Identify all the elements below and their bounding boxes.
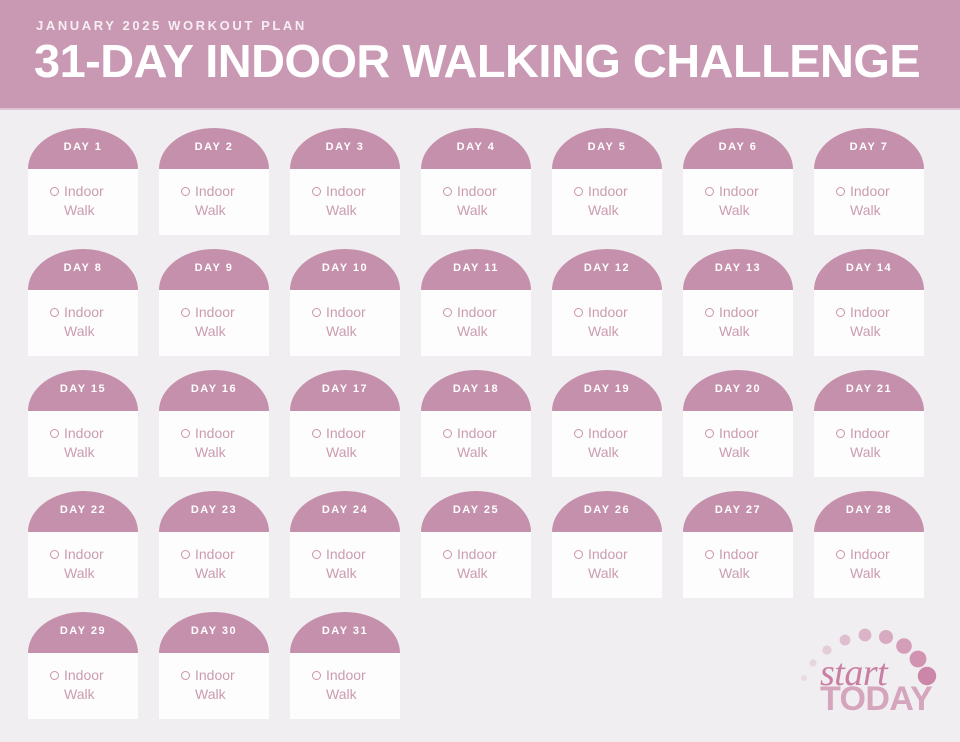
task-checkbox-circle-icon[interactable] xyxy=(574,429,583,438)
day-card-arch-header: DAY 2 xyxy=(159,128,269,169)
day-card-task-label: Indoor Walk xyxy=(64,666,132,704)
day-card-body: Indoor Walk xyxy=(159,169,269,235)
day-card-body: Indoor Walk xyxy=(28,290,138,356)
day-card-body: Indoor Walk xyxy=(814,290,924,356)
task-checkbox-circle-icon[interactable] xyxy=(705,187,714,196)
day-card-arch-header: DAY 15 xyxy=(28,370,138,411)
day-card-arch-header: DAY 17 xyxy=(290,370,400,411)
day-card-task-label: Indoor Walk xyxy=(457,545,525,583)
day-card-task-label: Indoor Walk xyxy=(64,303,132,341)
day-card[interactable]: DAY 27Indoor Walk xyxy=(683,491,793,598)
task-checkbox-circle-icon[interactable] xyxy=(705,308,714,317)
task-checkbox-circle-icon[interactable] xyxy=(836,550,845,559)
day-card-body: Indoor Walk xyxy=(159,290,269,356)
day-card-arch-header: DAY 9 xyxy=(159,249,269,290)
task-checkbox-circle-icon[interactable] xyxy=(705,429,714,438)
logo-arc-dot xyxy=(859,629,872,642)
task-checkbox-circle-icon[interactable] xyxy=(836,308,845,317)
logo-arc-dot xyxy=(910,651,927,668)
day-card-body: Indoor Walk xyxy=(814,169,924,235)
day-card-label: DAY 23 xyxy=(159,504,269,516)
day-card-label: DAY 16 xyxy=(159,383,269,395)
day-card-label: DAY 19 xyxy=(552,383,662,395)
day-card[interactable]: DAY 13Indoor Walk xyxy=(683,249,793,356)
day-card-body: Indoor Walk xyxy=(683,411,793,477)
day-card-label: DAY 2 xyxy=(159,141,269,153)
day-card-task-label: Indoor Walk xyxy=(64,545,132,583)
day-card[interactable]: DAY 1Indoor Walk xyxy=(28,128,138,235)
day-card[interactable]: DAY 23Indoor Walk xyxy=(159,491,269,598)
task-checkbox-circle-icon[interactable] xyxy=(443,187,452,196)
day-card-arch-header: DAY 24 xyxy=(290,491,400,532)
day-card[interactable]: DAY 26Indoor Walk xyxy=(552,491,662,598)
day-card[interactable]: DAY 24Indoor Walk xyxy=(290,491,400,598)
day-card-arch-header: DAY 27 xyxy=(683,491,793,532)
day-card-task-label: Indoor Walk xyxy=(326,182,394,220)
day-card-label: DAY 17 xyxy=(290,383,400,395)
day-card-arch-header: DAY 23 xyxy=(159,491,269,532)
day-card-task-label: Indoor Walk xyxy=(326,545,394,583)
day-card-task-label: Indoor Walk xyxy=(850,424,918,462)
day-card-body: Indoor Walk xyxy=(290,169,400,235)
task-checkbox-circle-icon[interactable] xyxy=(705,550,714,559)
day-card-arch-header: DAY 8 xyxy=(28,249,138,290)
day-card-arch-header: DAY 1 xyxy=(28,128,138,169)
task-checkbox-circle-icon[interactable] xyxy=(50,550,59,559)
task-checkbox-circle-icon[interactable] xyxy=(181,429,190,438)
day-card-task-label: Indoor Walk xyxy=(719,182,787,220)
task-checkbox-circle-icon[interactable] xyxy=(312,429,321,438)
day-card[interactable]: DAY 18Indoor Walk xyxy=(421,370,531,477)
day-card-task-label: Indoor Walk xyxy=(719,303,787,341)
task-checkbox-circle-icon[interactable] xyxy=(574,550,583,559)
day-card-task-label: Indoor Walk xyxy=(326,666,394,704)
day-card[interactable]: DAY 12Indoor Walk xyxy=(552,249,662,356)
task-checkbox-circle-icon[interactable] xyxy=(836,429,845,438)
task-checkbox-circle-icon[interactable] xyxy=(181,187,190,196)
day-card-label: DAY 6 xyxy=(683,141,793,153)
logo-arc-dot xyxy=(809,659,816,666)
day-card[interactable]: DAY 19Indoor Walk xyxy=(552,370,662,477)
day-card-arch-header: DAY 5 xyxy=(552,128,662,169)
logo-arc-dot xyxy=(801,675,807,681)
task-checkbox-circle-icon[interactable] xyxy=(50,429,59,438)
day-card-body: Indoor Walk xyxy=(683,169,793,235)
day-card-body: Indoor Walk xyxy=(290,290,400,356)
start-today-logo: start TODAY xyxy=(796,614,948,718)
day-card-task-label: Indoor Walk xyxy=(850,545,918,583)
day-card-arch-header: DAY 12 xyxy=(552,249,662,290)
day-card-label: DAY 4 xyxy=(421,141,531,153)
day-card-body: Indoor Walk xyxy=(552,532,662,598)
day-card-body: Indoor Walk xyxy=(683,290,793,356)
day-card-label: DAY 29 xyxy=(28,625,138,637)
day-card-task-label: Indoor Walk xyxy=(588,303,656,341)
day-card-task-label: Indoor Walk xyxy=(195,545,263,583)
task-checkbox-circle-icon[interactable] xyxy=(443,429,452,438)
day-card-task-label: Indoor Walk xyxy=(850,182,918,220)
day-card-body: Indoor Walk xyxy=(421,411,531,477)
day-card-arch-header: DAY 6 xyxy=(683,128,793,169)
day-card[interactable]: DAY 11Indoor Walk xyxy=(421,249,531,356)
day-card-label: DAY 5 xyxy=(552,141,662,153)
logo-arc-dot xyxy=(896,638,912,654)
day-card-arch-header: DAY 13 xyxy=(683,249,793,290)
day-card-label: DAY 21 xyxy=(814,383,924,395)
day-card-body: Indoor Walk xyxy=(421,290,531,356)
day-card[interactable]: DAY 29Indoor Walk xyxy=(28,612,138,719)
page-title: 31-DAY INDOOR WALKING CHALLENGE xyxy=(34,36,920,86)
logo-arc-dot xyxy=(879,630,893,644)
task-checkbox-circle-icon[interactable] xyxy=(50,308,59,317)
day-card-arch-header: DAY 18 xyxy=(421,370,531,411)
day-card-arch-header: DAY 20 xyxy=(683,370,793,411)
day-card-body: Indoor Walk xyxy=(421,532,531,598)
day-card[interactable]: DAY 7Indoor Walk xyxy=(814,128,924,235)
day-card[interactable]: DAY 3Indoor Walk xyxy=(290,128,400,235)
task-checkbox-circle-icon[interactable] xyxy=(50,187,59,196)
day-card[interactable]: DAY 9Indoor Walk xyxy=(159,249,269,356)
day-card[interactable]: DAY 5Indoor Walk xyxy=(552,128,662,235)
day-card-label: DAY 18 xyxy=(421,383,531,395)
task-checkbox-circle-icon[interactable] xyxy=(181,550,190,559)
day-card-arch-header: DAY 25 xyxy=(421,491,531,532)
day-card-task-label: Indoor Walk xyxy=(719,545,787,583)
day-card-label: DAY 31 xyxy=(290,625,400,637)
day-card-label: DAY 27 xyxy=(683,504,793,516)
day-card[interactable]: DAY 8Indoor Walk xyxy=(28,249,138,356)
day-card-arch-header: DAY 19 xyxy=(552,370,662,411)
day-card[interactable]: DAY 17Indoor Walk xyxy=(290,370,400,477)
day-card-body: Indoor Walk xyxy=(814,411,924,477)
day-card-label: DAY 14 xyxy=(814,262,924,274)
day-card-body: Indoor Walk xyxy=(28,653,138,719)
task-checkbox-circle-icon[interactable] xyxy=(836,187,845,196)
day-card-body: Indoor Walk xyxy=(290,411,400,477)
day-card-label: DAY 11 xyxy=(421,262,531,274)
day-card-label: DAY 30 xyxy=(159,625,269,637)
day-card-label: DAY 25 xyxy=(421,504,531,516)
day-card-label: DAY 24 xyxy=(290,504,400,516)
task-checkbox-circle-icon[interactable] xyxy=(443,308,452,317)
day-card-body: Indoor Walk xyxy=(290,653,400,719)
day-card-label: DAY 13 xyxy=(683,262,793,274)
day-card[interactable]: DAY 16Indoor Walk xyxy=(159,370,269,477)
task-checkbox-circle-icon[interactable] xyxy=(181,671,190,680)
day-card-task-label: Indoor Walk xyxy=(850,303,918,341)
day-card[interactable]: DAY 6Indoor Walk xyxy=(683,128,793,235)
day-card-body: Indoor Walk xyxy=(552,290,662,356)
day-card-task-label: Indoor Walk xyxy=(326,424,394,462)
day-card-label: DAY 15 xyxy=(28,383,138,395)
day-card-task-label: Indoor Walk xyxy=(195,424,263,462)
day-card-label: DAY 7 xyxy=(814,141,924,153)
day-card-label: DAY 1 xyxy=(28,141,138,153)
day-card-label: DAY 28 xyxy=(814,504,924,516)
day-card-task-label: Indoor Walk xyxy=(457,303,525,341)
day-card-task-label: Indoor Walk xyxy=(719,424,787,462)
task-checkbox-circle-icon[interactable] xyxy=(574,308,583,317)
day-card-arch-header: DAY 7 xyxy=(814,128,924,169)
day-card-body: Indoor Walk xyxy=(159,532,269,598)
day-card[interactable]: DAY 2Indoor Walk xyxy=(159,128,269,235)
day-card[interactable]: DAY 15Indoor Walk xyxy=(28,370,138,477)
day-card-task-label: Indoor Walk xyxy=(195,303,263,341)
day-card-body: Indoor Walk xyxy=(683,532,793,598)
logo-bold-text: TODAY xyxy=(820,682,932,716)
day-card-task-label: Indoor Walk xyxy=(195,666,263,704)
task-checkbox-circle-icon[interactable] xyxy=(181,308,190,317)
header-eyebrow: JANUARY 2025 WORKOUT PLAN xyxy=(36,18,307,33)
task-checkbox-circle-icon[interactable] xyxy=(50,671,59,680)
day-card-task-label: Indoor Walk xyxy=(588,424,656,462)
day-card-body: Indoor Walk xyxy=(159,653,269,719)
task-checkbox-circle-icon[interactable] xyxy=(312,671,321,680)
day-card-body: Indoor Walk xyxy=(421,169,531,235)
day-card-body: Indoor Walk xyxy=(159,411,269,477)
task-checkbox-circle-icon[interactable] xyxy=(312,187,321,196)
day-card[interactable]: DAY 4Indoor Walk xyxy=(421,128,531,235)
day-card-arch-header: DAY 10 xyxy=(290,249,400,290)
day-card[interactable]: DAY 10Indoor Walk xyxy=(290,249,400,356)
day-card-arch-header: DAY 30 xyxy=(159,612,269,653)
day-card-arch-header: DAY 4 xyxy=(421,128,531,169)
day-card-arch-header: DAY 16 xyxy=(159,370,269,411)
day-card[interactable]: DAY 22Indoor Walk xyxy=(28,491,138,598)
day-card-body: Indoor Walk xyxy=(552,169,662,235)
day-card-arch-header: DAY 29 xyxy=(28,612,138,653)
page-header-band: JANUARY 2025 WORKOUT PLAN 31-DAY INDOOR … xyxy=(0,0,960,110)
day-card-label: DAY 9 xyxy=(159,262,269,274)
day-card[interactable]: DAY 31Indoor Walk xyxy=(290,612,400,719)
day-card[interactable]: DAY 28Indoor Walk xyxy=(814,491,924,598)
day-card-task-label: Indoor Walk xyxy=(457,424,525,462)
task-checkbox-circle-icon[interactable] xyxy=(574,187,583,196)
day-card-label: DAY 26 xyxy=(552,504,662,516)
day-card-arch-header: DAY 11 xyxy=(421,249,531,290)
task-checkbox-circle-icon[interactable] xyxy=(443,550,452,559)
day-card-task-label: Indoor Walk xyxy=(64,182,132,220)
day-card-label: DAY 12 xyxy=(552,262,662,274)
day-card[interactable]: DAY 21Indoor Walk xyxy=(814,370,924,477)
day-card[interactable]: DAY 14Indoor Walk xyxy=(814,249,924,356)
day-card[interactable]: DAY 20Indoor Walk xyxy=(683,370,793,477)
day-card-task-label: Indoor Walk xyxy=(588,182,656,220)
day-card-arch-header: DAY 14 xyxy=(814,249,924,290)
day-card-body: Indoor Walk xyxy=(28,532,138,598)
day-card-task-label: Indoor Walk xyxy=(588,545,656,583)
day-card-label: DAY 22 xyxy=(28,504,138,516)
day-card-body: Indoor Walk xyxy=(28,169,138,235)
day-card[interactable]: DAY 30Indoor Walk xyxy=(159,612,269,719)
day-card-body: Indoor Walk xyxy=(290,532,400,598)
day-card-arch-header: DAY 21 xyxy=(814,370,924,411)
day-card-arch-header: DAY 3 xyxy=(290,128,400,169)
task-checkbox-circle-icon[interactable] xyxy=(312,550,321,559)
day-card[interactable]: DAY 25Indoor Walk xyxy=(421,491,531,598)
day-card-task-label: Indoor Walk xyxy=(64,424,132,462)
task-checkbox-circle-icon[interactable] xyxy=(312,308,321,317)
logo-arc-dot xyxy=(840,635,851,646)
day-card-task-label: Indoor Walk xyxy=(326,303,394,341)
day-card-arch-header: DAY 28 xyxy=(814,491,924,532)
day-card-task-label: Indoor Walk xyxy=(457,182,525,220)
day-card-arch-header: DAY 31 xyxy=(290,612,400,653)
day-card-label: DAY 8 xyxy=(28,262,138,274)
day-card-arch-header: DAY 26 xyxy=(552,491,662,532)
day-card-body: Indoor Walk xyxy=(814,532,924,598)
day-card-label: DAY 10 xyxy=(290,262,400,274)
day-card-arch-header: DAY 22 xyxy=(28,491,138,532)
day-card-label: DAY 20 xyxy=(683,383,793,395)
day-card-task-label: Indoor Walk xyxy=(195,182,263,220)
day-card-body: Indoor Walk xyxy=(552,411,662,477)
day-card-label: DAY 3 xyxy=(290,141,400,153)
day-card-body: Indoor Walk xyxy=(28,411,138,477)
